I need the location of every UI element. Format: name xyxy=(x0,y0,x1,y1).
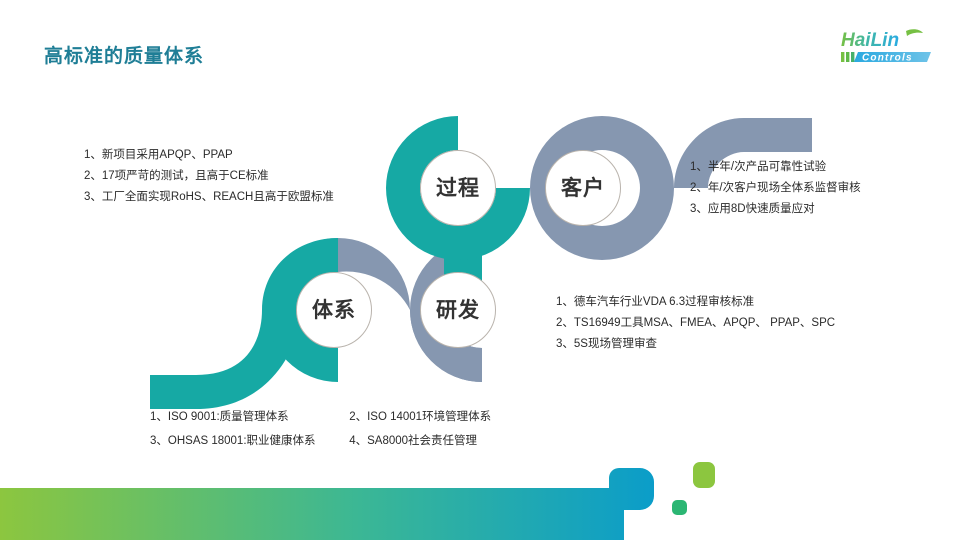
node-process-label: 过程 xyxy=(436,178,480,199)
text-block-top-right: 1、半年/次产品可靠性试验 2、年/次客户现场全体系监督审核 3、应用8D快速质… xyxy=(690,157,861,220)
footer-decoration xyxy=(0,440,960,540)
text-line: 3、工厂全面实现RoHS、REACH且高于欧盟标准 xyxy=(84,187,334,208)
node-system[interactable]: 体系 xyxy=(296,272,372,348)
text-row: 1、ISO 9001:质量管理体系 2、ISO 14001环境管理体系 xyxy=(150,405,491,429)
footer-accent-teal xyxy=(672,500,687,515)
text-block-mid-right: 1、德车汽车行业VDA 6.3过程审核标准 2、TS16949工具MSA、FME… xyxy=(556,292,835,355)
svg-text:Controls: Controls xyxy=(862,53,913,64)
svg-text:HaiLin: HaiLin xyxy=(841,30,899,51)
node-customer-label: 客户 xyxy=(561,178,605,199)
text-line: 1、德车汽车行业VDA 6.3过程审核标准 xyxy=(556,292,835,313)
page-title: 高标准的质量体系 xyxy=(44,41,204,68)
node-rd-label: 研发 xyxy=(436,300,480,321)
text-cell: 1、ISO 9001:质量管理体系 xyxy=(150,405,346,429)
text-line: 3、5S现场管理审查 xyxy=(556,334,835,355)
footer-accent-green xyxy=(693,462,715,488)
logo-graphic: HaiLin Controls xyxy=(828,26,946,70)
node-rd[interactable]: 研发 xyxy=(420,272,496,348)
text-line: 2、TS16949工具MSA、FMEA、APQP、 PPAP、SPC xyxy=(556,313,835,334)
text-block-top-left: 1、新项目采用APQP、PPAP 2、17项严苛的测试，且高于CE标准 3、工厂… xyxy=(84,145,334,208)
node-system-label: 体系 xyxy=(312,300,356,321)
text-line: 2、年/次客户现场全体系监督审核 xyxy=(690,178,861,199)
text-cell: 2、ISO 14001环境管理体系 xyxy=(349,405,491,429)
text-line: 3、应用8D快速质量应对 xyxy=(690,199,861,220)
node-process[interactable]: 过程 xyxy=(420,150,496,226)
hailin-logo: HaiLin Controls xyxy=(828,26,946,70)
text-line: 1、半年/次产品可靠性试验 xyxy=(690,157,861,178)
footer-band xyxy=(0,468,654,540)
node-customer[interactable]: 客户 xyxy=(545,150,621,226)
text-line: 2、17项严苛的测试，且高于CE标准 xyxy=(84,166,334,187)
text-line: 1、新项目采用APQP、PPAP xyxy=(84,145,334,166)
